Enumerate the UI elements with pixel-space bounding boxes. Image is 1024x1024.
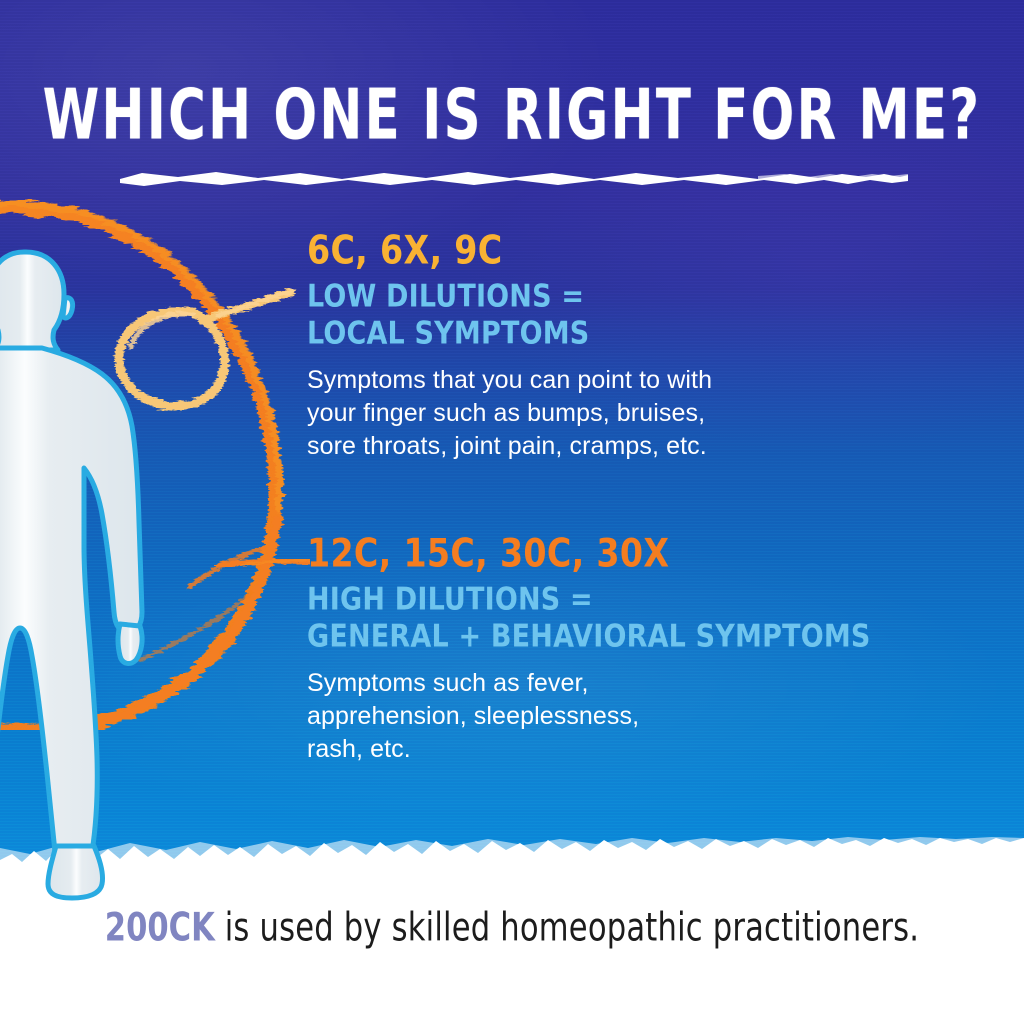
- page-title: WHICH ONE IS RIGHT FOR ME?: [41, 78, 983, 151]
- description-high-line-3: rash, etc.: [307, 733, 967, 766]
- footer-note: 200CK is used by skilled homeopathic pra…: [0, 905, 1024, 951]
- subtitle-low-line-1: LOW DILUTIONS =: [307, 278, 967, 315]
- description-high-line-2: apprehension, sleeplessness,: [307, 700, 967, 733]
- description-high-line-1: Symptoms such as fever,: [307, 667, 967, 700]
- description-high: Symptoms such as fever, apprehension, sl…: [307, 667, 967, 767]
- footer-dilution-mark: 200CK: [105, 905, 215, 951]
- footer-text: is used by skilled homeopathic practitio…: [215, 905, 919, 951]
- dilution-block-low: 6C, 6X, 9C LOW DILUTIONS = LOCAL SYMPTOM…: [307, 232, 967, 463]
- title-underline-brush-stroke: [118, 168, 908, 190]
- dose-label-low: 6C, 6X, 9C: [307, 231, 967, 272]
- subtitle-high-line-1: HIGH DILUTIONS =: [307, 581, 967, 618]
- amber-pointer-stroke: [203, 291, 293, 320]
- description-low-line-1: Symptoms that you can point to with: [307, 364, 967, 397]
- infographic-canvas: WHICH ONE IS RIGHT FOR ME? 6C, 6X, 9C LO…: [0, 0, 1024, 1024]
- subtitle-high-line-2: GENERAL + BEHAVIORAL SYMPTOMS: [307, 618, 967, 655]
- subtitle-low: LOW DILUTIONS = LOCAL SYMPTOMS: [307, 278, 967, 352]
- dilution-block-high: 12C, 15C, 30C, 30X HIGH DILUTIONS = GENE…: [307, 535, 967, 766]
- subtitle-high: HIGH DILUTIONS = GENERAL + BEHAVIORAL SY…: [307, 581, 967, 655]
- description-low-line-2: your finger such as bumps, bruises,: [307, 397, 967, 430]
- description-low: Symptoms that you can point to with your…: [307, 364, 967, 464]
- amber-brush-circle-shoulder: [95, 288, 315, 428]
- dose-label-high: 12C, 15C, 30C, 30X: [307, 534, 967, 575]
- subtitle-low-line-2: LOCAL SYMPTOMS: [307, 315, 967, 352]
- description-low-line-3: sore throats, joint pain, cramps, etc.: [307, 430, 967, 463]
